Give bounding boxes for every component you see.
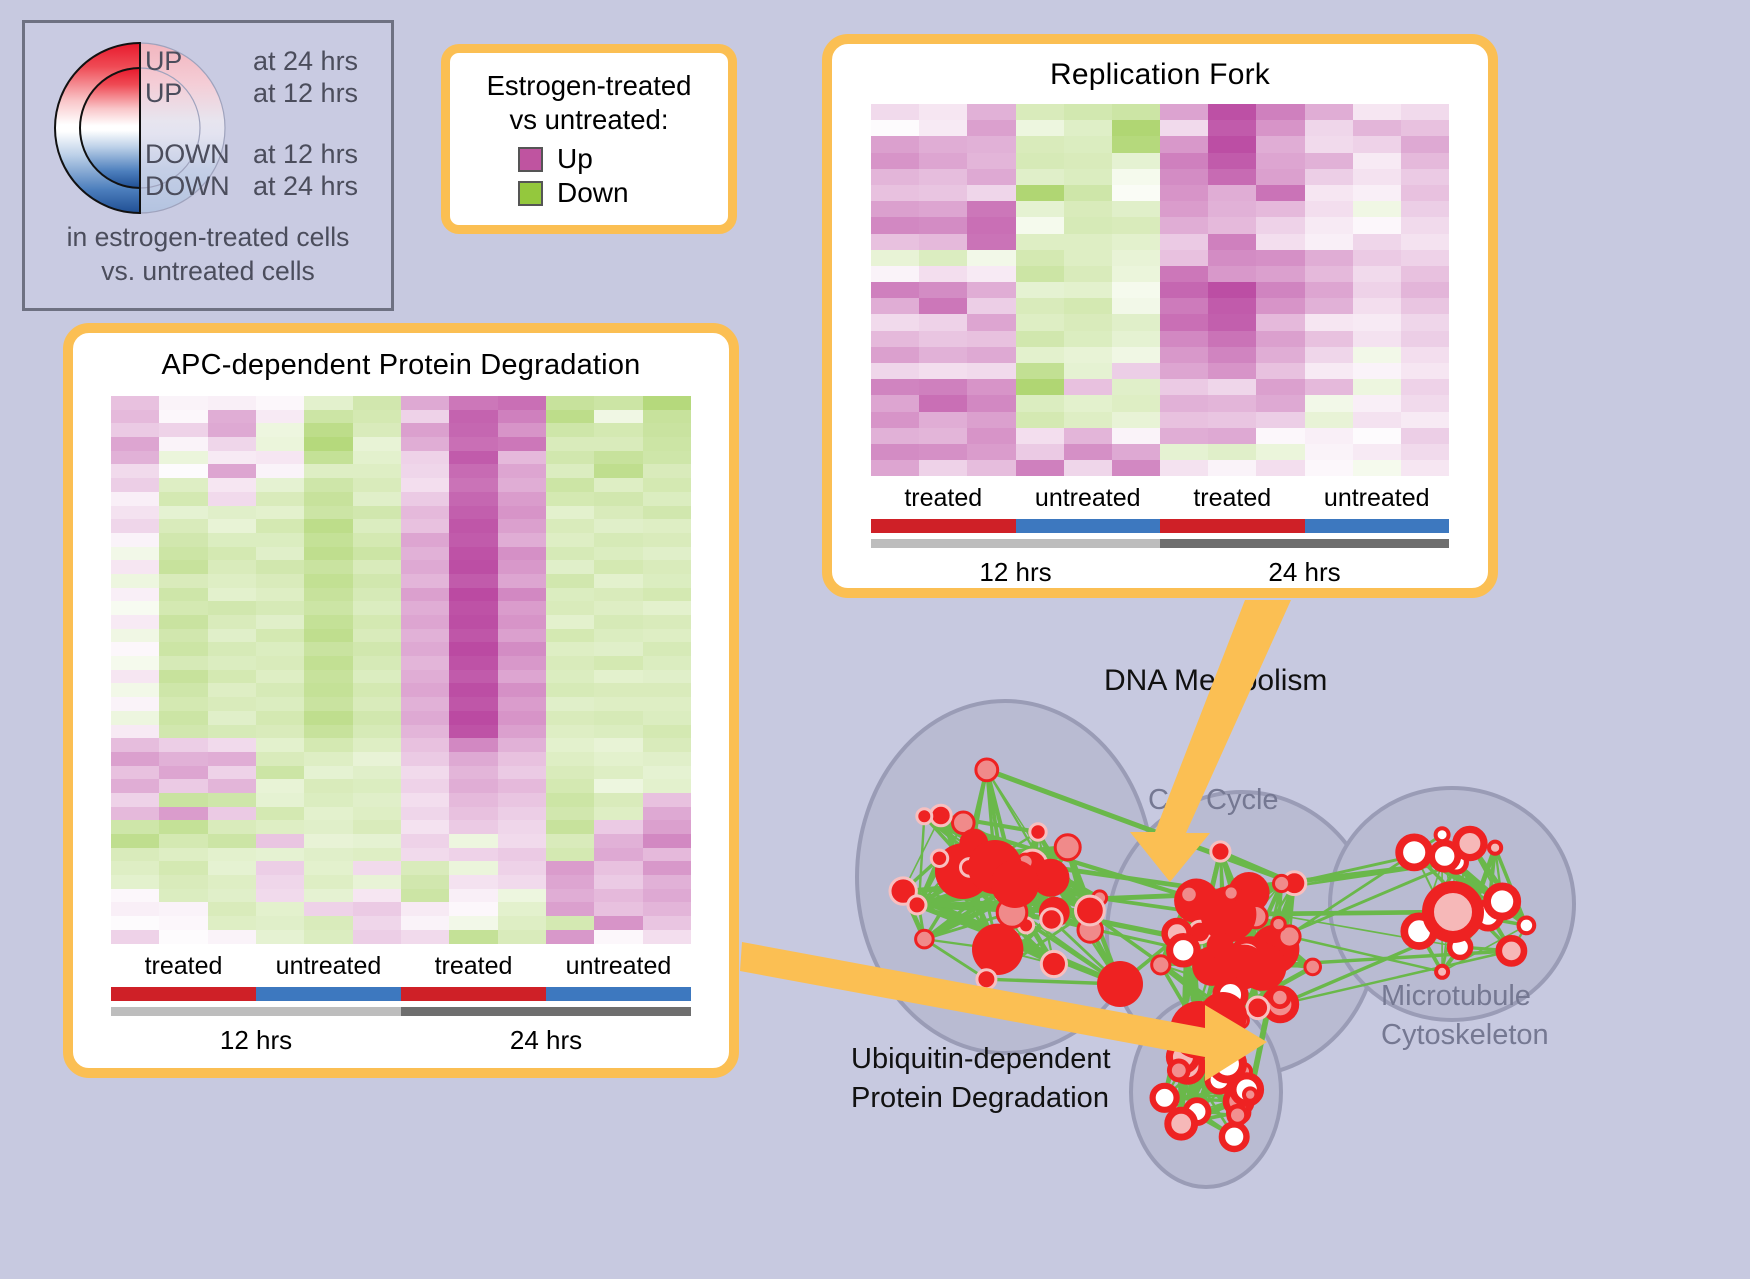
heatmap-cell (498, 629, 546, 643)
heatmap-cell (1016, 136, 1064, 152)
heatmap-cell (871, 153, 919, 169)
heatmap-cell (546, 492, 594, 506)
heatmap-cell (643, 697, 691, 711)
heatmap-cell (1353, 331, 1401, 347)
heatmap-cell (401, 560, 449, 574)
heatmap-cell (1016, 266, 1064, 282)
heatmap-cell (449, 779, 497, 793)
heatmap-cell (1064, 169, 1112, 185)
heatmap-cell (546, 711, 594, 725)
heatmap-cell (1016, 395, 1064, 411)
heatmap-cell (643, 670, 691, 684)
heatmap-cell (967, 363, 1015, 379)
heatmap-cell (111, 902, 159, 916)
color-key-rows: UP at 24 hrs UP at 12 hrs DOWN at 12 hrs… (145, 45, 395, 202)
heatmap-cell (871, 120, 919, 136)
heatmap-cell (1064, 201, 1112, 217)
heatmap-cell (256, 547, 304, 561)
heatmap-cell (594, 861, 642, 875)
heatmap-cell (449, 725, 497, 739)
heatmap-cell (594, 930, 642, 944)
heatmap-cell (304, 697, 352, 711)
heatmap-cell (498, 807, 546, 821)
heatmap-cell (1160, 136, 1208, 152)
heatmap-cell (643, 766, 691, 780)
heatmap-cell (643, 533, 691, 547)
heatmap-cell (449, 533, 497, 547)
heatmap-cell (498, 656, 546, 670)
heatmap-cell (449, 547, 497, 561)
heatmap-cell (449, 560, 497, 574)
heatmap-cell (498, 793, 546, 807)
heatmap-cell (304, 861, 352, 875)
heatmap-cell (1160, 298, 1208, 314)
heatmap-cell (1305, 104, 1353, 120)
heatmap-cell (449, 464, 497, 478)
heatmap-cell (353, 656, 401, 670)
heatmap-cell (919, 444, 967, 460)
legend-item-down: Down (518, 176, 728, 210)
heatmap-cell (919, 120, 967, 136)
heatmap-cell (1208, 314, 1256, 330)
heatmap-cell (111, 793, 159, 807)
heatmap-cell (498, 451, 546, 465)
heatmap-cell (304, 410, 352, 424)
heatmap-cell (594, 574, 642, 588)
heatmap-cell (643, 875, 691, 889)
heatmap-cell (1256, 282, 1304, 298)
heatmap-cell (1160, 331, 1208, 347)
heatmap-cell (208, 574, 256, 588)
heatmap-cell (967, 120, 1015, 136)
heatmap-cell (546, 834, 594, 848)
heatmap-cell (546, 930, 594, 944)
heatmap-cell (111, 464, 159, 478)
heatmap-cell (1305, 234, 1353, 250)
heatmap-cell (919, 250, 967, 266)
heatmap-cell (159, 396, 207, 410)
heatmap-cell (111, 451, 159, 465)
heatmap-cell (546, 464, 594, 478)
heatmap-cell (304, 601, 352, 615)
heatmap-cell (871, 444, 919, 460)
heatmap-cell (1016, 314, 1064, 330)
network-node (1487, 886, 1517, 916)
color-key-row: UP at 24 hrs (145, 45, 395, 77)
heatmap-cell (1353, 201, 1401, 217)
heatmap-cell (449, 506, 497, 520)
heatmap-cell (1305, 379, 1353, 395)
heatmap-cell (643, 779, 691, 793)
network-node (1271, 988, 1289, 1006)
heatmap-cell (256, 615, 304, 629)
heatmap-cell (304, 711, 352, 725)
heatmap-cell (1064, 136, 1112, 152)
heatmap-cell (304, 437, 352, 451)
heatmap-cell (1305, 185, 1353, 201)
heatmap-cell (1401, 250, 1449, 266)
color-key-row: UP at 12 hrs (145, 77, 395, 109)
down-swatch-icon (518, 181, 543, 206)
heatmap-cell (1401, 185, 1449, 201)
heatmap-cell (256, 519, 304, 533)
color-key-direction: UP (145, 78, 253, 109)
network-node (1097, 961, 1143, 1007)
heatmap-cell (111, 574, 159, 588)
heatmap-cell (498, 492, 546, 506)
color-key-time: at 12 hrs (253, 139, 358, 170)
heatmap-cell (1353, 428, 1401, 444)
network-node (1247, 997, 1269, 1019)
heatmap-cell (159, 560, 207, 574)
heatmap-cell (643, 930, 691, 944)
heatmap-cell (1016, 331, 1064, 347)
heatmap-cell (871, 169, 919, 185)
heatmap-cell (401, 725, 449, 739)
heatmap-cell (1305, 314, 1353, 330)
heatmap-cell (256, 423, 304, 437)
heatmap-cell (594, 889, 642, 903)
heatmap-cell (208, 916, 256, 930)
heatmap-cell (449, 588, 497, 602)
heatmap-cell (111, 410, 159, 424)
heatmap-cell (1112, 282, 1160, 298)
network-node (1211, 842, 1230, 861)
heatmap-cell (159, 861, 207, 875)
heatmap-cell (449, 492, 497, 506)
heatmap-cell (256, 437, 304, 451)
heatmap-cell (256, 930, 304, 944)
treatment-color-bar (871, 519, 1449, 533)
heatmap-cell (1401, 153, 1449, 169)
heatmap-cell (594, 464, 642, 478)
heatmap-cell (546, 683, 594, 697)
heatmap-cell (1353, 298, 1401, 314)
heatmap-cell (643, 916, 691, 930)
heatmap-cell (1064, 379, 1112, 395)
heatmap-cell (1256, 428, 1304, 444)
heatmap-cell (594, 656, 642, 670)
heatmap-cell (1112, 250, 1160, 266)
heatmap-cell (256, 396, 304, 410)
heatmap-cell (919, 412, 967, 428)
heatmap-cell (1401, 282, 1449, 298)
heatmap-cell (111, 547, 159, 561)
heatmap-cell (594, 492, 642, 506)
heatmap-cell (594, 902, 642, 916)
untreated-bar-segment (1016, 519, 1161, 533)
heatmap-cell (256, 670, 304, 684)
heatmap-cell (304, 889, 352, 903)
heatmap-cell (546, 656, 594, 670)
heatmap-cell (1401, 347, 1449, 363)
heatmap-cell (919, 395, 967, 411)
heatmap-cell (546, 861, 594, 875)
network-node (931, 850, 947, 866)
up-swatch-icon (518, 147, 543, 172)
network-node (931, 805, 952, 826)
heatmap-cell (919, 201, 967, 217)
network-node (1499, 938, 1524, 963)
heatmap-cell (919, 428, 967, 444)
heatmap-cell (643, 629, 691, 643)
heatmap-cell (208, 793, 256, 807)
heatmap-cell (208, 889, 256, 903)
heatmap-cell (498, 725, 546, 739)
heatmap-cell (546, 916, 594, 930)
heatmap-cell (159, 725, 207, 739)
heatmap-cell (643, 560, 691, 574)
heatmap-cell (1160, 314, 1208, 330)
heatmap-cell (1160, 395, 1208, 411)
heatmap-cell (546, 889, 594, 903)
heatmap-cell (401, 601, 449, 615)
treatment-labels: treated untreated treated untreated (111, 944, 691, 987)
heatmap-cell (919, 169, 967, 185)
heatmap-cell (967, 282, 1015, 298)
heatmap-cell (304, 506, 352, 520)
heatmap-cell (1256, 460, 1304, 476)
heatmap-cell (111, 478, 159, 492)
heatmap-cell (401, 738, 449, 752)
heatmap-cell (643, 601, 691, 615)
heatmap-cell (353, 848, 401, 862)
heatmap-cell (256, 916, 304, 930)
heatmap-cell (353, 820, 401, 834)
heatmap-cell (111, 588, 159, 602)
heatmap-cell (1353, 444, 1401, 460)
heatmap-cell (546, 519, 594, 533)
heatmap-cell (643, 725, 691, 739)
heatmap-cell (546, 423, 594, 437)
legend-items: Up Down (450, 142, 728, 210)
heatmap-cell (1353, 120, 1401, 136)
heatmap-cell (871, 201, 919, 217)
heatmap-cell (208, 807, 256, 821)
heatmap-cell (1160, 153, 1208, 169)
heatmap-cell (449, 766, 497, 780)
heatmap-cell (1256, 412, 1304, 428)
heatmap-cell (1112, 314, 1160, 330)
network-node (1274, 875, 1290, 891)
heatmap-cell (498, 547, 546, 561)
heatmap-cell (449, 451, 497, 465)
heatmap-cell (1016, 298, 1064, 314)
heatmap-cell (1305, 282, 1353, 298)
heatmap-cell (256, 533, 304, 547)
heatmap-cell (1208, 412, 1256, 428)
heatmap-cell (1353, 395, 1401, 411)
heatmap-cell (871, 136, 919, 152)
heatmap-cell (208, 437, 256, 451)
heatmap-cell (256, 588, 304, 602)
heatmap-cell (1401, 120, 1449, 136)
heatmap-cell (546, 670, 594, 684)
heatmap-cell (353, 506, 401, 520)
heatmap-cell (353, 437, 401, 451)
heatmap-cell (1160, 169, 1208, 185)
heatmap-cell (967, 298, 1015, 314)
heatmap-cell (546, 478, 594, 492)
heatmap-cell (353, 738, 401, 752)
heatmap-cell (1064, 153, 1112, 169)
heatmap-cell (304, 902, 352, 916)
heatmap-cell (111, 656, 159, 670)
heatmap-cell (1401, 217, 1449, 233)
heatmap-cell (449, 683, 497, 697)
color-key-direction: DOWN (145, 171, 253, 202)
heatmap-cell (208, 902, 256, 916)
heatmap-cell (159, 533, 207, 547)
heatmap-cell (498, 697, 546, 711)
color-key-row: DOWN at 12 hrs (145, 138, 395, 170)
network-node (1152, 956, 1170, 974)
heatmap-cell (353, 670, 401, 684)
heatmap-cell (546, 506, 594, 520)
heatmap-cell (1353, 185, 1401, 201)
heatmap-cell (1256, 104, 1304, 120)
heatmap-cell (401, 697, 449, 711)
heatmap-cell (1016, 120, 1064, 136)
heatmap-cell (401, 916, 449, 930)
heatmap-cell (159, 492, 207, 506)
heatmap-cell (208, 451, 256, 465)
heatmap-cell (1256, 120, 1304, 136)
heatmap-cell (256, 492, 304, 506)
heatmap-cell (1401, 298, 1449, 314)
heatmap-cell (304, 725, 352, 739)
heatmap-cell (449, 916, 497, 930)
heatmap-cell (1256, 298, 1304, 314)
heatmap-cell (1016, 250, 1064, 266)
heatmap-cell (643, 848, 691, 862)
heatmap-cell (1353, 136, 1401, 152)
heatmap-cell (304, 588, 352, 602)
heatmap-cell (304, 629, 352, 643)
heatmap-cell (1160, 266, 1208, 282)
updown-legend-card: Estrogen-treated vs untreated: Up Down (441, 44, 737, 234)
heatmap-cell (594, 519, 642, 533)
heatmap-cell (449, 629, 497, 643)
heatmap-cell (256, 683, 304, 697)
heatmap-cell (111, 615, 159, 629)
heatmap-cell (1016, 201, 1064, 217)
heatmap-cell (919, 379, 967, 395)
heatmap-cell (1305, 363, 1353, 379)
heatmap-cell (304, 848, 352, 862)
heatmap-cell (1256, 347, 1304, 363)
heatmap-cell (1401, 331, 1449, 347)
heatmap-cell (1112, 136, 1160, 152)
heatmap-cell (1353, 153, 1401, 169)
cluster-label-line1: Ubiquitin-dependent (851, 1040, 1111, 1079)
heatmap-cell (1305, 428, 1353, 444)
heatmap-cell (159, 930, 207, 944)
heatmap-cell (594, 875, 642, 889)
heatmap-cell (159, 642, 207, 656)
heatmap-cell (546, 725, 594, 739)
legend-title-line1: Estrogen-treated (450, 69, 728, 103)
heatmap-cell (1016, 185, 1064, 201)
heatmap-cell (1160, 104, 1208, 120)
treatment-label: untreated (546, 944, 691, 987)
heatmap-cell (208, 423, 256, 437)
heatmap-cell (353, 410, 401, 424)
heatmap-cell (401, 834, 449, 848)
heatmap-cell (1064, 250, 1112, 266)
heatmap-cell (1112, 347, 1160, 363)
cluster-label-cell-cycle: Cell Cycle (1148, 784, 1279, 817)
network-node (1428, 887, 1478, 937)
heatmap-cell (643, 902, 691, 916)
heatmap-cell (353, 807, 401, 821)
heatmap-cell (1016, 234, 1064, 250)
treatment-color-bar (111, 987, 691, 1001)
heatmap-cell (1112, 395, 1160, 411)
heatmap-cell (1208, 363, 1256, 379)
heatmap-cell (919, 331, 967, 347)
heatmap-cell (159, 410, 207, 424)
heatmap-cell (159, 711, 207, 725)
heatmap-cell (208, 752, 256, 766)
heatmap-cell (1256, 395, 1304, 411)
heatmap-cell (1256, 234, 1304, 250)
heatmap-cell (401, 793, 449, 807)
heatmap-cell (498, 738, 546, 752)
heatmap-cell (546, 697, 594, 711)
heatmap-cell (1112, 363, 1160, 379)
heatmap-cell (594, 642, 642, 656)
heatmap-cell (159, 464, 207, 478)
heatmap-cell (594, 807, 642, 821)
heatmap-cell (111, 725, 159, 739)
heatmap-cell (1208, 444, 1256, 460)
heatmap-cell (1208, 250, 1256, 266)
heatmap-cell (208, 725, 256, 739)
heatmap-cell (643, 437, 691, 451)
heatmap-cell (1256, 217, 1304, 233)
heatmap-cell (1160, 120, 1208, 136)
heatmap-cell (208, 670, 256, 684)
treatment-label: treated (401, 944, 546, 987)
heatmap-cell (1160, 234, 1208, 250)
heatmap-cell (353, 752, 401, 766)
heatmap-cell (1016, 363, 1064, 379)
heatmap-cell (1160, 444, 1208, 460)
heatmap-cell (643, 423, 691, 437)
heatmap-cell (353, 547, 401, 561)
heatmap-cell (594, 738, 642, 752)
heatmap-cell (1208, 428, 1256, 444)
heatmap-cell (1401, 460, 1449, 476)
network-node (1489, 842, 1501, 854)
heatmap-cell (1208, 460, 1256, 476)
heatmap-cell (256, 629, 304, 643)
heatmap-cell (208, 547, 256, 561)
heatmap-cell (1208, 104, 1256, 120)
heatmap-cell (919, 153, 967, 169)
heatmap-cell (449, 711, 497, 725)
heatmap-cell (1305, 412, 1353, 428)
heatmap-cell (159, 506, 207, 520)
network-node (1436, 966, 1448, 978)
heatmap-cell (498, 506, 546, 520)
heatmap-cell (1064, 412, 1112, 428)
heatmap-cell (643, 656, 691, 670)
heatmap-cell (449, 601, 497, 615)
network-node (916, 930, 934, 948)
heatmap-cell (1160, 460, 1208, 476)
